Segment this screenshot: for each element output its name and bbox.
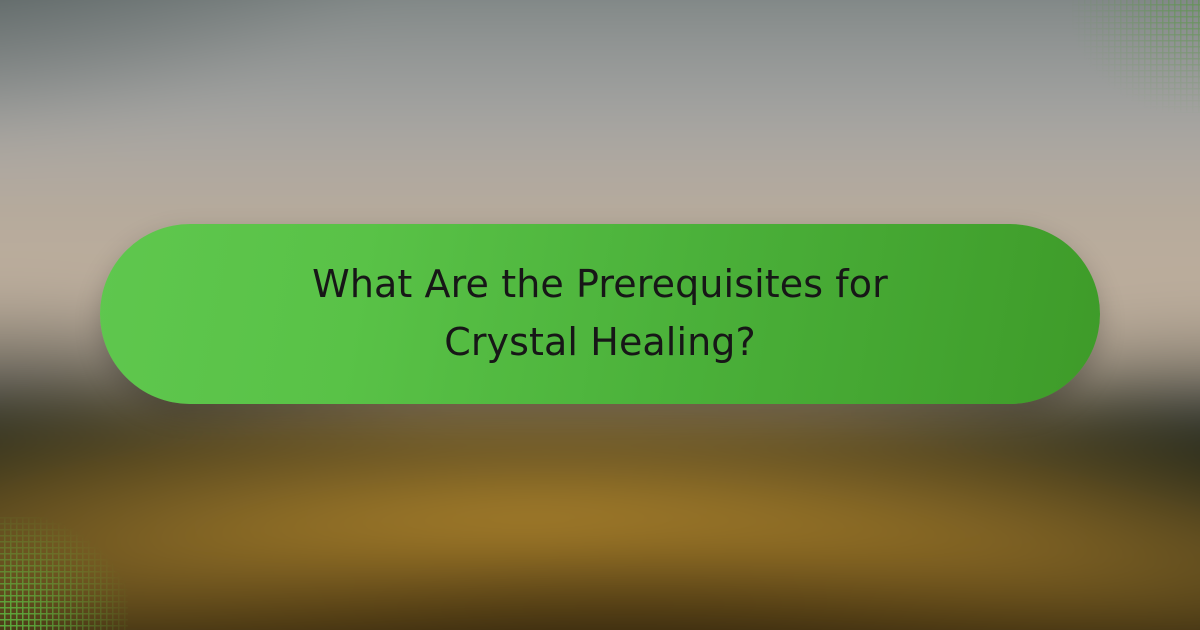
- title-pill: What Are the Prerequisites for Crystal H…: [100, 224, 1100, 404]
- social-share-card: What Are the Prerequisites for Crystal H…: [0, 0, 1200, 630]
- page-title: What Are the Prerequisites for Crystal H…: [260, 256, 940, 372]
